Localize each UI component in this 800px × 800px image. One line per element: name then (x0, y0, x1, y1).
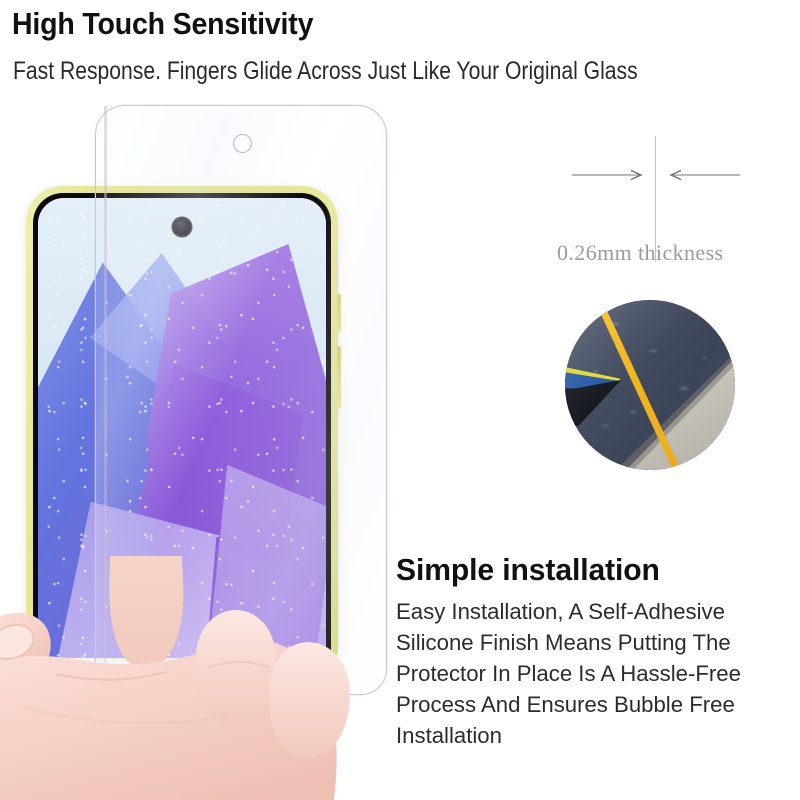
page-subtitle: Fast Response. Fingers Glide Across Just… (13, 57, 638, 86)
phone-side-button-power (337, 346, 341, 408)
section-body-installation: Easy Installation, A Self-Adhesive Silic… (396, 596, 786, 751)
thickness-label: 0.26mm thickness (557, 240, 787, 266)
body-line: Installation (396, 720, 786, 751)
section-title-installation: Simple installation (396, 552, 660, 588)
ring-finger (269, 642, 349, 757)
macro-gloss-overlay (565, 300, 735, 470)
body-line: Silicone Finish Means Putting The (396, 627, 786, 658)
phone-side-button-volume (337, 294, 341, 332)
body-line: Easy Installation, A Self-Adhesive (396, 596, 786, 627)
body-line: Protector In Place Is A Hassle-Free (396, 658, 786, 689)
body-line: Process And Ensures Bubble Free (396, 689, 786, 720)
camera-cutout-icon (233, 134, 252, 153)
hand-illustration (0, 556, 380, 800)
product-feature-image: High Touch Sensitivity Fast Response. Fi… (0, 0, 800, 800)
arrow-right-icon (572, 170, 644, 180)
arrow-left-icon (668, 170, 740, 180)
macro-detail-circle (565, 300, 735, 470)
page-title: High Touch Sensitivity (12, 6, 313, 42)
index-finger (109, 556, 183, 668)
punch-hole-camera-icon (173, 218, 191, 236)
